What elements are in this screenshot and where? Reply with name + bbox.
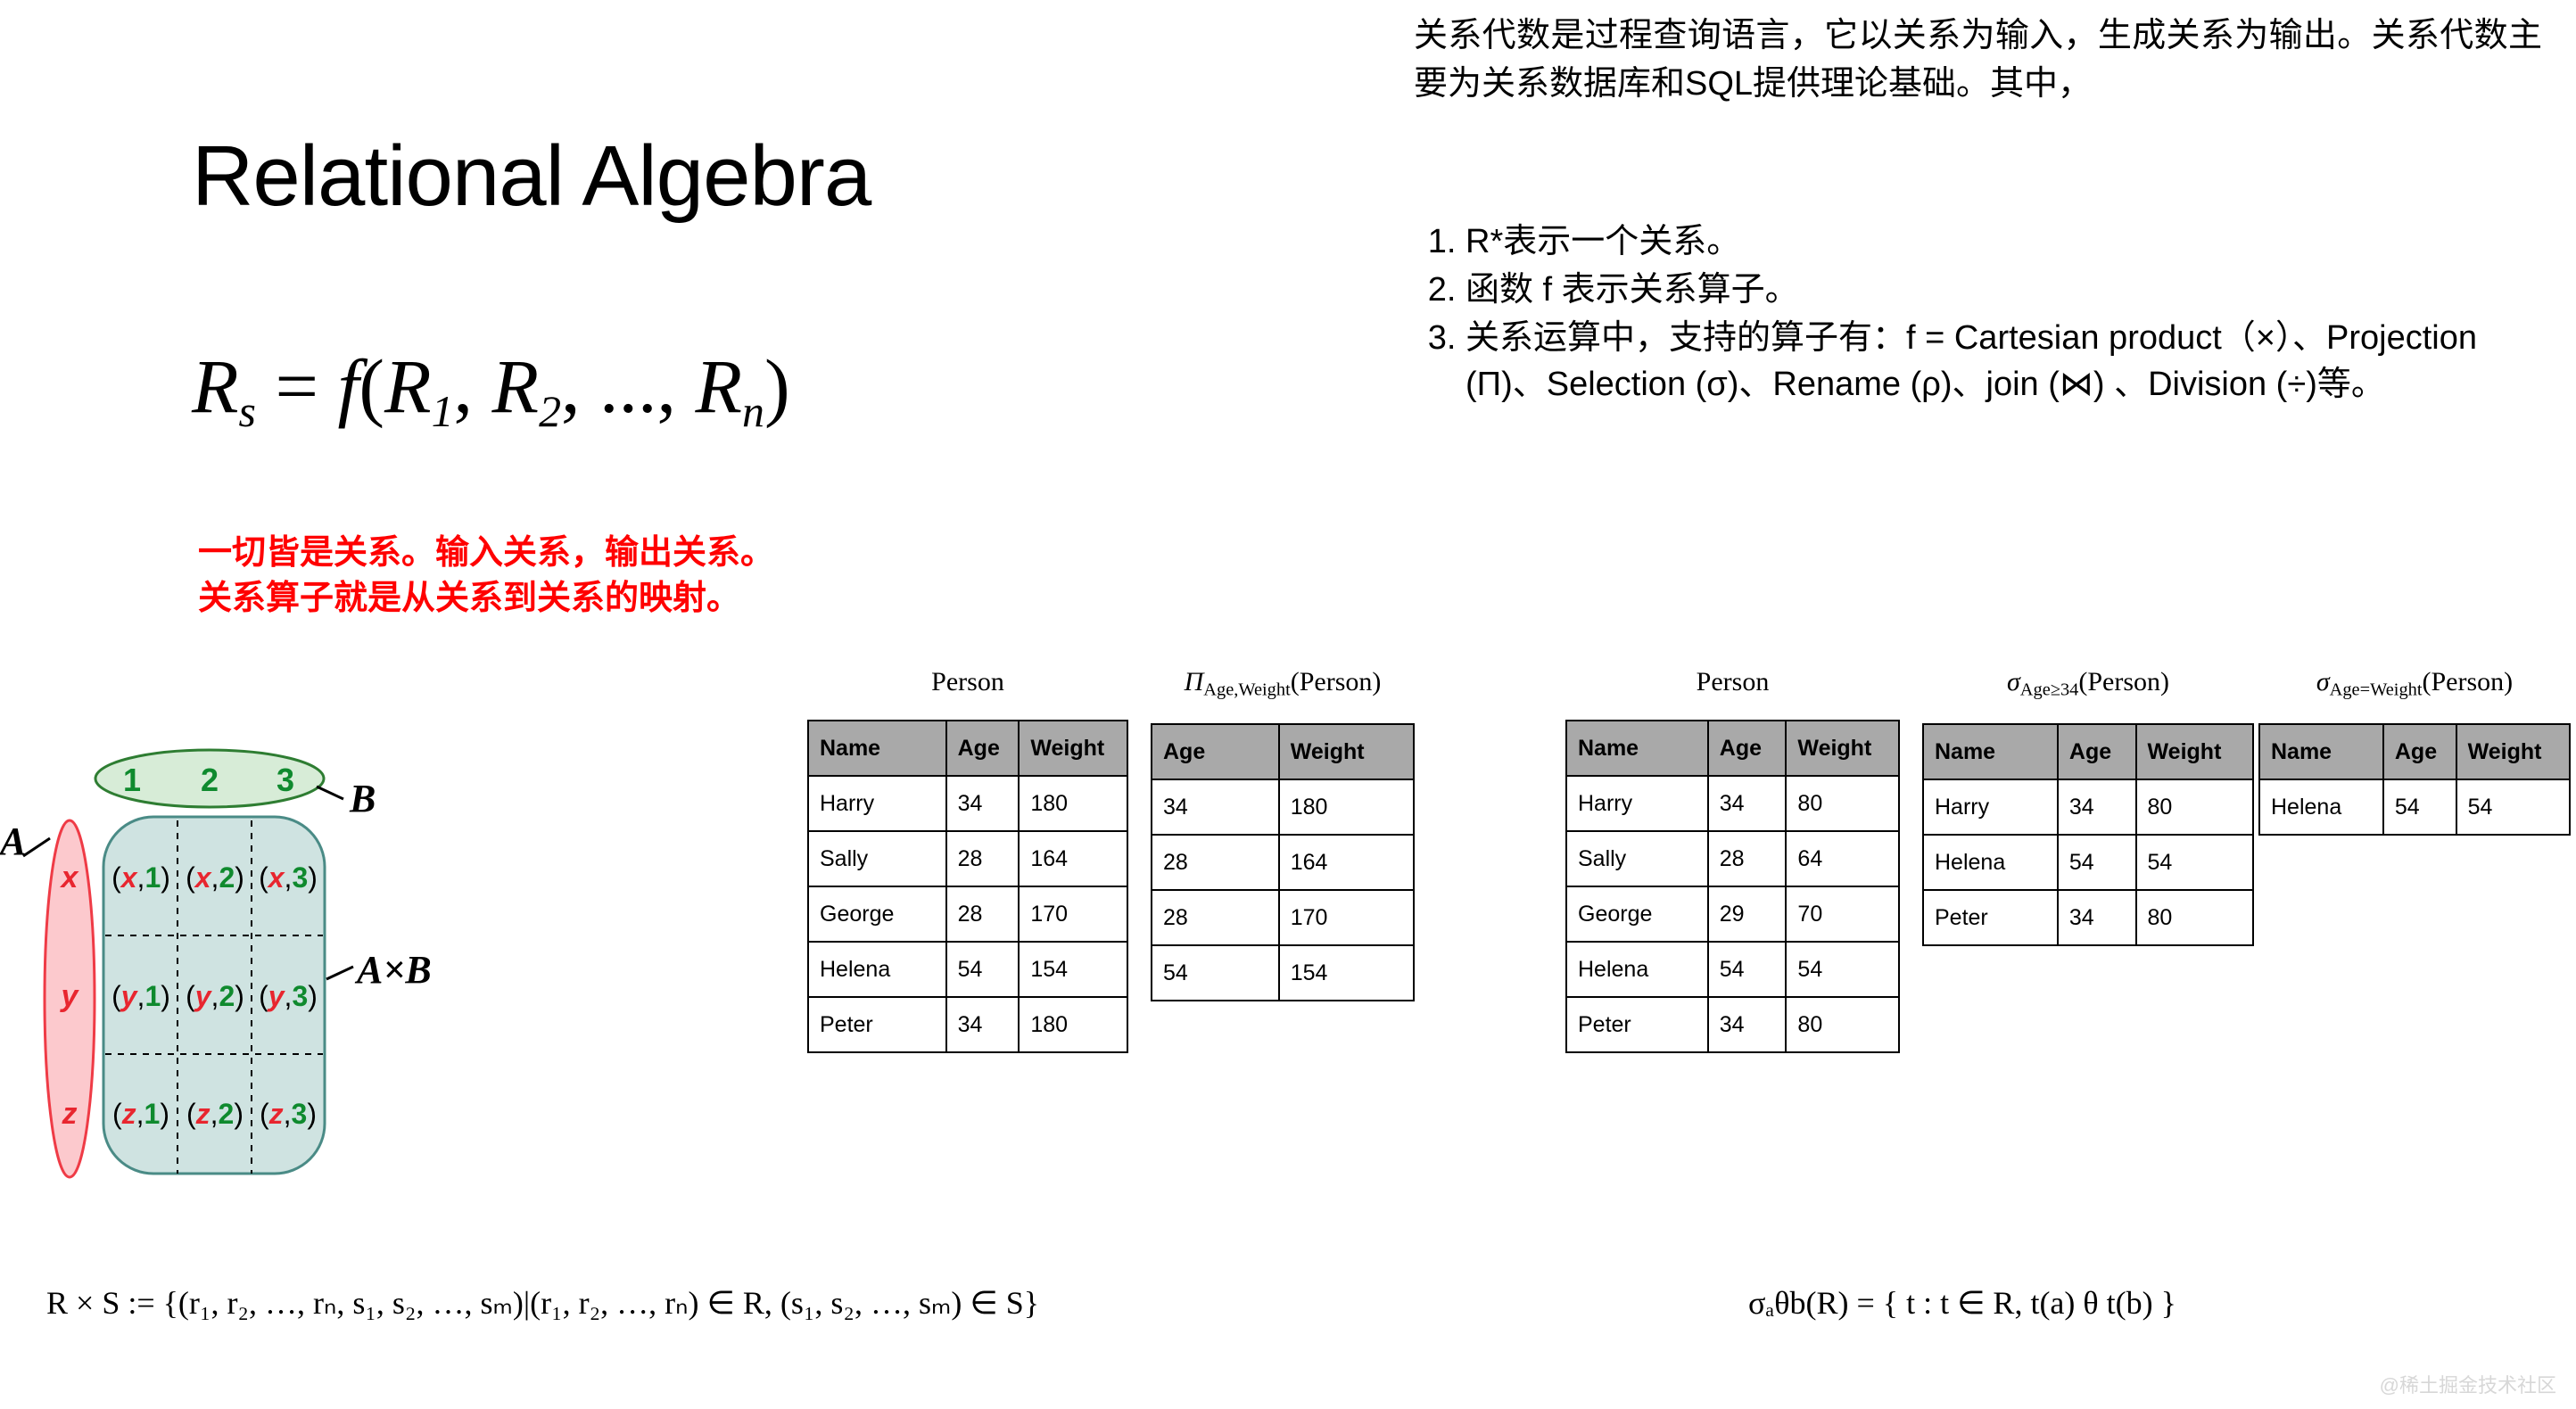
column-header: Name (808, 721, 946, 776)
product-pair-cell: (y,1) (111, 980, 170, 1012)
product-pair-cell: (z,2) (186, 1098, 244, 1130)
watermark: @稀土掘金技术社区 (2380, 1370, 2556, 1398)
table-row: George28170 (808, 886, 1127, 942)
cell: Peter (1566, 997, 1708, 1052)
formula-close-paren: ) (764, 343, 790, 429)
cell: 154 (1279, 945, 1414, 1001)
column-header: Weight (1279, 724, 1414, 779)
relation-caption: ΠAge,Weight(Person) (1151, 669, 1415, 699)
cell: Helena (808, 942, 946, 997)
table-row: Sally2864 (1566, 831, 1899, 886)
table-row: 28170 (1152, 890, 1414, 945)
set-b-element: 1 (123, 762, 141, 798)
cell: 70 (1786, 886, 1899, 942)
cell: 80 (1786, 776, 1899, 831)
cell: 54 (2383, 779, 2456, 835)
column-header: Age (1708, 721, 1787, 776)
column-header: Age (2383, 724, 2456, 779)
column-header: Weight (1786, 721, 1899, 776)
selection-argument: (Person) (2078, 667, 2169, 696)
relation-table-selection-age-ge-34: Name Age Weight Harry3480 Helena5454 Pet… (1922, 723, 2254, 946)
column-header: Age (2058, 724, 2136, 779)
cell: 64 (1786, 831, 1899, 886)
cell: 28 (946, 831, 1020, 886)
cell: Helena (2259, 779, 2383, 835)
relation-block-projection: ΠAge,Weight(Person) Age Weight 34180 281… (1151, 669, 1415, 1001)
product-pair-cell: (y,2) (186, 980, 244, 1012)
set-a-leader-line (23, 838, 50, 856)
cell: 34 (946, 776, 1020, 831)
product-pair-cell: (z,3) (260, 1098, 317, 1130)
selection-subscript: Age≥34 (2020, 680, 2079, 700)
product-set-label: A×B (354, 948, 432, 992)
cell: 170 (1279, 890, 1414, 945)
formula-function: f (337, 343, 359, 429)
list-item: 函数 f 表示关系算子。 (1466, 267, 2564, 313)
formula-arg-2: R2 (492, 343, 561, 429)
cell: 180 (1019, 997, 1127, 1052)
cell: Helena (1923, 835, 2058, 890)
operator-list: R*表示一个关系。 函数 f 表示关系算子。 关系运算中，支持的算子有：f = … (1414, 218, 2564, 409)
selection-definition-formula: σₐθb(R) = { t : t ∈ R, t(a) θ t(b) } (1748, 1287, 2176, 1319)
product-pair-cell: (x,2) (186, 861, 244, 894)
cell: 54 (2058, 835, 2136, 890)
table-header-row: Age Weight (1152, 724, 1414, 779)
formula-ellipsis: , ..., (561, 343, 696, 429)
formula-lhs: Rs (192, 343, 256, 429)
table-row: George2970 (1566, 886, 1899, 942)
selection-symbol: σ (2316, 667, 2330, 696)
cell: 54 (2456, 779, 2570, 835)
table-row: 28164 (1152, 835, 1414, 890)
set-a-label: A (0, 820, 26, 863)
formula-open-paren: ( (359, 343, 384, 429)
intro-paragraph: 关系代数是过程查询语言，它以关系为输入，生成关系为输出。关系代数主要为关系数据库… (1414, 12, 2542, 109)
projection-symbol: Π (1185, 667, 1204, 696)
column-header: Name (1923, 724, 2058, 779)
formula-arg-1: R1 (384, 343, 453, 429)
cell: 164 (1019, 831, 1127, 886)
red-note-line-2: 关系算子就是从关系到关系的映射。 (198, 576, 774, 622)
cell: 154 (1019, 942, 1127, 997)
cartesian-product-diagram: B 1 2 3 A×B A x y z (x,1) (x,2) (x,3) (y… (0, 740, 678, 1186)
page-title: Relational Algebra (192, 134, 871, 219)
column-header: Weight (1019, 721, 1127, 776)
cell: 164 (1279, 835, 1414, 890)
column-header: Name (2259, 724, 2383, 779)
cell: 34 (2058, 890, 2136, 945)
set-b-element: 3 (277, 762, 294, 798)
cell: Harry (808, 776, 946, 831)
cell: 54 (2136, 835, 2253, 890)
table-row: Peter34180 (808, 997, 1127, 1052)
cell: 54 (1786, 942, 1899, 997)
main-formula: Rs = f(R1, R2, ..., Rn) (192, 348, 790, 434)
product-pair-cell: (y,3) (259, 980, 318, 1012)
product-leader-line (326, 967, 353, 979)
column-header: Weight (2456, 724, 2570, 779)
product-pair-cell: (x,3) (259, 861, 318, 894)
formula-equals: = (256, 343, 338, 429)
set-b-label: B (349, 777, 376, 820)
cell: 34 (2058, 779, 2136, 835)
cell: Sally (808, 831, 946, 886)
cell: 54 (1708, 942, 1787, 997)
list-item: 关系运算中，支持的算子有：f = Cartesian product（×）、Pr… (1466, 315, 2564, 408)
cell: 28 (1708, 831, 1787, 886)
relation-caption: σAge≥34(Person) (1922, 669, 2254, 699)
selection-symbol: σ (2007, 667, 2020, 696)
list-item: R*表示一个关系。 (1466, 218, 2564, 265)
relation-block-person-2: Person Name Age Weight Harry3480 Sally28… (1565, 669, 1900, 1053)
table-row: Helena5454 (1566, 942, 1899, 997)
table-header-row: Name Age Weight (2259, 724, 2570, 779)
cell: George (1566, 886, 1708, 942)
cell: Harry (1923, 779, 2058, 835)
product-pair-cell: (x,1) (111, 861, 170, 894)
selection-subscript: Age=Weight (2330, 680, 2423, 700)
relation-table-person-2: Name Age Weight Harry3480 Sally2864 Geor… (1565, 720, 1900, 1053)
cartesian-product-definition-formula: R × S := {(r₁, r₂, …, rₙ, s₁, s₂, …, sₘ)… (46, 1287, 1039, 1319)
set-a-element: z (62, 1097, 78, 1131)
table-row: Harry3480 (1923, 779, 2253, 835)
relation-table-person-1: Name Age Weight Harry34180 Sally28164 Ge… (807, 720, 1128, 1053)
column-header: Age (946, 721, 1020, 776)
set-b-leader-line (317, 787, 343, 799)
product-pair-cell: (z,1) (112, 1098, 169, 1130)
column-header: Weight (2136, 724, 2253, 779)
cell: Peter (808, 997, 946, 1052)
cell: 29 (1708, 886, 1787, 942)
set-a-element: y (60, 979, 80, 1013)
cell: George (808, 886, 946, 942)
relation-caption: Person (807, 669, 1128, 696)
cell: 170 (1019, 886, 1127, 942)
red-note-line-1: 一切皆是关系。输入关系，输出关系。 (198, 531, 774, 576)
formula-arg-n: Rn (696, 343, 764, 429)
table-row: 34180 (1152, 779, 1414, 835)
relation-table-projection: Age Weight 34180 28164 28170 54154 (1151, 723, 1415, 1001)
red-emphasis-note: 一切皆是关系。输入关系，输出关系。 关系算子就是从关系到关系的映射。 (198, 531, 774, 622)
set-a-element: x (60, 861, 80, 894)
cell: Peter (1923, 890, 2058, 945)
cell: 28 (1152, 835, 1279, 890)
table-row: Peter3480 (1923, 890, 2253, 945)
relation-table-selection-age-eq-weight: Name Age Weight Helena5454 (2258, 723, 2571, 836)
cell: 34 (946, 997, 1020, 1052)
cell: 34 (1708, 997, 1787, 1052)
table-row: Helena54154 (808, 942, 1127, 997)
column-header: Name (1566, 721, 1708, 776)
cell: 28 (946, 886, 1020, 942)
table-header-row: Name Age Weight (1923, 724, 2253, 779)
table-row: Helena5454 (2259, 779, 2570, 835)
table-row: Sally28164 (808, 831, 1127, 886)
column-header: Age (1152, 724, 1279, 779)
set-b-element: 2 (201, 762, 219, 798)
cell: 34 (1708, 776, 1787, 831)
cell: 80 (2136, 890, 2253, 945)
table-row: 54154 (1152, 945, 1414, 1001)
table-header-row: Name Age Weight (808, 721, 1127, 776)
relation-block-selection-age-eq-weight: σAge=Weight(Person) Name Age Weight Hele… (2258, 669, 2571, 836)
cell: 180 (1019, 776, 1127, 831)
table-row: Harry3480 (1566, 776, 1899, 831)
relation-block-person-1: Person Name Age Weight Harry34180 Sally2… (807, 669, 1128, 1053)
table-row: Peter3480 (1566, 997, 1899, 1052)
table-row: Harry34180 (808, 776, 1127, 831)
cell: 180 (1279, 779, 1414, 835)
cell: 34 (1152, 779, 1279, 835)
relation-caption: Person (1565, 669, 1900, 696)
selection-argument: (Person) (2423, 667, 2514, 696)
table-header-row: Name Age Weight (1566, 721, 1899, 776)
table-row: Helena5454 (1923, 835, 2253, 890)
cell: 54 (946, 942, 1020, 997)
cell: Harry (1566, 776, 1708, 831)
relation-caption: σAge=Weight(Person) (2258, 669, 2571, 699)
cell: 80 (2136, 779, 2253, 835)
cell: 28 (1152, 890, 1279, 945)
cell: 80 (1786, 997, 1899, 1052)
cell: 54 (1152, 945, 1279, 1001)
cell: Helena (1566, 942, 1708, 997)
projection-argument: (Person) (1291, 667, 1382, 696)
relation-block-selection-age-ge-34: σAge≥34(Person) Name Age Weight Harry348… (1922, 669, 2254, 946)
cell: Sally (1566, 831, 1708, 886)
projection-subscript: Age,Weight (1203, 680, 1290, 700)
